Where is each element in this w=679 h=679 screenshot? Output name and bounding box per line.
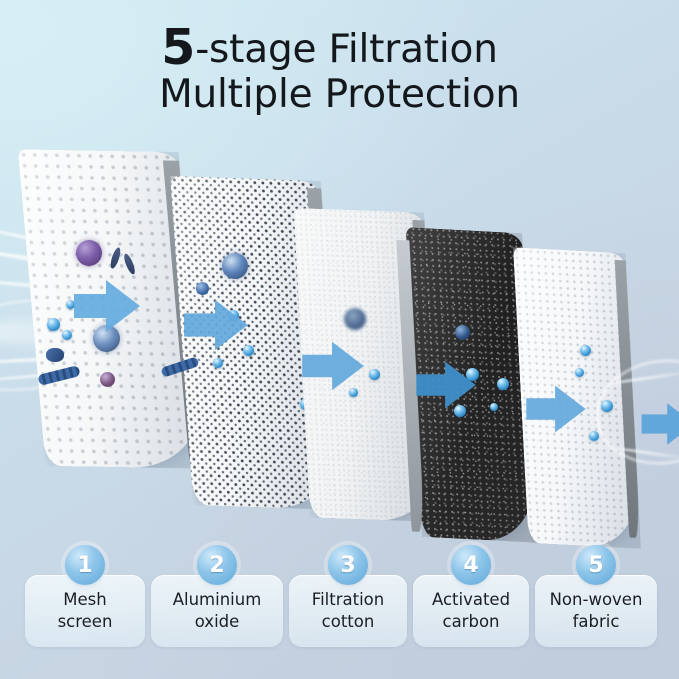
legend-row: Mesh screen 1 Aluminium oxide 2 Filtrati… [0,545,679,663]
virus-particle [76,240,102,266]
airflow-arrow-4 [414,358,478,412]
germ-particle [455,325,470,340]
title-stage-number: 5 [161,19,195,76]
germ-particle [100,372,115,387]
air-molecule [490,403,498,411]
legend-label-line-2: carbon [443,611,500,633]
air-molecule [62,330,72,340]
legend-label: Activated carbon [413,575,529,647]
legend-badge-5: 5 [576,545,616,585]
legend-badge-3: 3 [328,545,368,585]
legend-label-line-2: fabric [573,611,620,633]
legend-label-line-1: Activated [432,589,510,611]
page-title: 5-stage Filtration Multiple Protection [0,22,679,115]
legend-item-non-woven-fabric[interactable]: Non-woven fabric 5 [535,575,657,647]
legend-item-filtration-cotton[interactable]: Filtration cotton 3 [289,575,407,647]
legend-badge-2: 2 [197,545,237,585]
air-molecule [575,368,584,377]
air-molecule [497,378,509,390]
legend-badge-4: 4 [451,545,491,585]
airflow-arrow-2 [182,296,250,354]
airflow-arrow-5 [524,382,588,436]
legend-label-line-1: Aluminium [173,589,262,611]
legend-label-line-1: Mesh [63,589,106,611]
air-molecule [47,318,60,331]
legend-badge-1: 1 [65,545,105,585]
legend-item-activated-carbon[interactable]: Activated carbon 4 [413,575,529,647]
air-molecule [369,369,380,380]
legend-label-line-2: oxide [195,611,240,633]
legend-label: Filtration cotton [289,575,407,647]
legend-label: Aluminium oxide [151,575,283,647]
germ-particle [196,282,209,295]
legend-label-line-1: Filtration [312,589,384,611]
legend-label-line-2: screen [58,611,113,633]
airflow-arrow-outlet [640,400,679,448]
legend-item-aluminium-oxide[interactable]: Aluminium oxide 2 [151,575,283,647]
air-molecule [580,345,591,356]
legend-label-line-1: Non-woven [550,589,643,611]
airflow-arrow-1 [72,276,142,336]
title-line-1: 5-stage Filtration [0,22,679,74]
legend-label-line-2: cotton [322,611,375,633]
bacteria-cluster [46,348,64,362]
airflow-arrow-3 [300,338,366,394]
air-molecule [589,431,599,441]
title-line-2: Multiple Protection [0,74,679,115]
legend-label: Mesh screen [25,575,145,647]
virus-particle [222,253,248,279]
legend-label: Non-woven fabric [535,575,657,647]
germ-particle [344,308,366,330]
air-molecule [213,358,223,368]
filtration-infographic: 5-stage Filtration Multiple Protection [0,0,679,679]
legend-item-mesh-screen[interactable]: Mesh screen 1 [25,575,145,647]
title-line-1-rest: -stage Filtration [195,27,498,72]
